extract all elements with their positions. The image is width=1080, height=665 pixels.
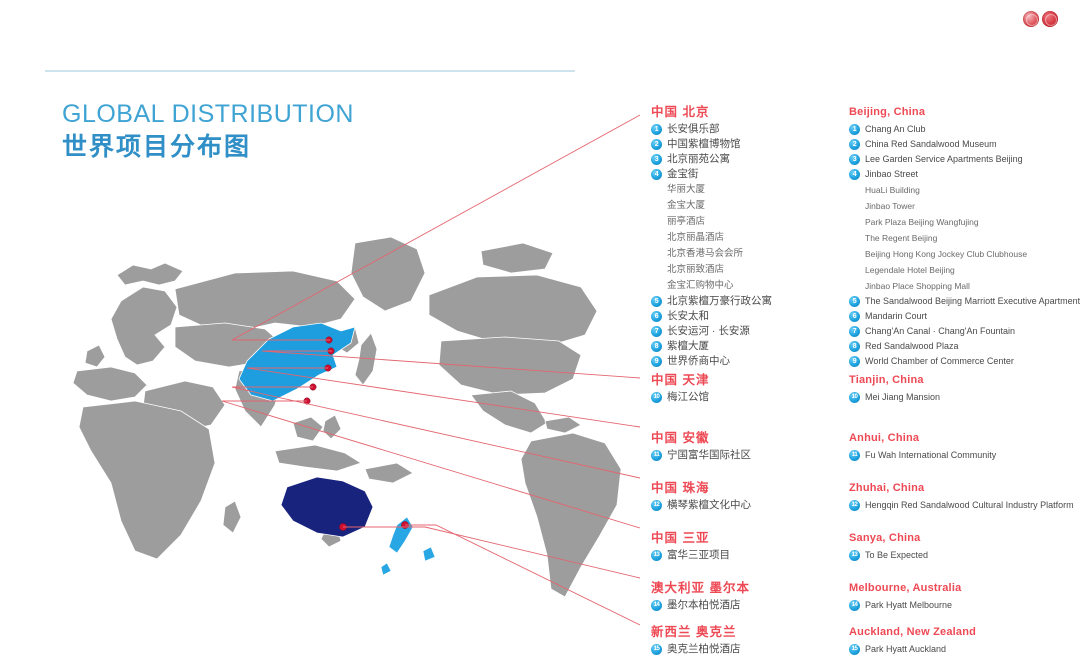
map-landmass-png [365, 463, 413, 483]
project-list-item[interactable]: 5北京紫檀万豪行政公寓 [651, 295, 772, 307]
map-landmass-usa [439, 337, 581, 395]
project-number-badge: 11 [849, 450, 860, 461]
project-number-badge: 10 [849, 392, 860, 403]
project-number-badge: 1 [651, 124, 662, 135]
project-list-item[interactable]: 2China Red Sandalwood Museum [849, 138, 1080, 150]
map-landmass-arctic-islands [481, 243, 553, 273]
project-name-label: 横琴紫檀文化中心 [667, 499, 751, 511]
project-number-badge: 2 [849, 139, 860, 150]
project-name-label: Fu Wah International Community [865, 449, 996, 461]
project-name-label: The Sandalwood Beijing Marriott Executiv… [865, 295, 1080, 307]
project-group-heading: 中国 天津 [651, 372, 709, 388]
project-sub-item[interactable]: HuaLi Building [849, 184, 1080, 196]
project-list-item[interactable]: 1Chang An Club [849, 123, 1080, 135]
project-number-badge: 7 [651, 326, 662, 337]
page-title-en: GLOBAL DISTRIBUTION [62, 100, 354, 130]
map-landmass-philippines [323, 415, 341, 439]
map-region-australia [281, 477, 373, 537]
map-landmass-indonesia [275, 445, 361, 471]
project-list-item[interactable]: 11宁国富华国际社区 [651, 449, 751, 461]
logo-badge-2-icon [1042, 11, 1058, 27]
project-list-item[interactable]: 9World Chamber of Commerce Center [849, 355, 1080, 367]
project-list-item[interactable]: 9世界侨商中心 [651, 355, 772, 367]
project-sub-item[interactable]: 华丽大厦 [651, 184, 772, 196]
project-list-item[interactable]: 13富华三亚项目 [651, 549, 730, 561]
project-number-badge: 11 [651, 450, 662, 461]
project-number-badge: 3 [651, 154, 662, 165]
map-landmass-caribbean [545, 417, 581, 433]
project-name-label: 长安俱乐部 [667, 123, 720, 135]
project-name-label: 富华三亚项目 [667, 549, 730, 561]
project-number-badge: 14 [849, 600, 860, 611]
project-name-label: 长安运河 · 长安源 [667, 325, 750, 337]
project-group-heading: Melbourne, Australia [849, 580, 961, 596]
map-marker-auckland [401, 521, 408, 528]
project-number-badge: 15 [849, 644, 860, 655]
project-number-badge: 4 [651, 169, 662, 180]
project-list-item[interactable]: 4金宝街 [651, 168, 772, 180]
project-group: Anhui, China11Fu Wah International Commu… [849, 430, 996, 461]
project-name-label: 长安太和 [667, 310, 709, 322]
map-marker-beijing [326, 337, 332, 343]
project-group: Beijing, China1Chang An Club2China Red S… [849, 104, 1080, 367]
project-sub-item[interactable]: 金宝大厦 [651, 200, 772, 212]
project-number-badge: 6 [849, 311, 860, 322]
project-number-badge: 15 [651, 644, 662, 655]
project-list-item[interactable]: 6长安太和 [651, 310, 772, 322]
project-sub-item[interactable]: 丽亭酒店 [651, 216, 772, 228]
project-number-badge: 4 [849, 169, 860, 180]
project-list-item[interactable]: 10梅江公馆 [651, 391, 709, 403]
project-list-item[interactable]: 7Chang'An Canal · Chang'An Fountain [849, 325, 1080, 337]
project-name-label: 宁国富华国际社区 [667, 449, 751, 461]
logo-badge-1-icon [1023, 11, 1039, 27]
project-sub-item[interactable]: The Regent Beijing [849, 232, 1080, 244]
project-list-item[interactable]: 3Lee Garden Service Apartments Beijing [849, 153, 1080, 165]
project-number-badge: 8 [849, 341, 860, 352]
project-list-item[interactable]: 2中国紫檀博物馆 [651, 138, 772, 150]
project-group-heading: Anhui, China [849, 430, 996, 446]
world-map [25, 215, 665, 615]
project-name-label: Chang An Club [865, 123, 926, 135]
logo-badge-group [1023, 11, 1058, 27]
project-group: 澳大利亚 墨尔本14墨尔本柏悦酒店 [651, 580, 750, 611]
project-name-label: 梅江公馆 [667, 391, 709, 403]
project-group-heading: Sanya, China [849, 530, 928, 546]
project-group-heading: Tianjin, China [849, 372, 940, 388]
project-group-heading: 中国 珠海 [651, 480, 751, 496]
project-number-badge: 10 [651, 392, 662, 403]
project-sub-item[interactable]: Jinbao Place Shopping Mall [849, 280, 1080, 292]
project-name-label: Park Hyatt Melbourne [865, 599, 952, 611]
map-landmass-sea-islands [293, 417, 323, 441]
project-number-badge: 5 [651, 296, 662, 307]
project-list-item[interactable]: 4Jinbao Street [849, 168, 1080, 180]
project-number-badge: 12 [651, 500, 662, 511]
project-group-heading: 中国 北京 [651, 104, 772, 120]
project-group: Sanya, China13To Be Expected [849, 530, 928, 561]
map-region-nz-islands [423, 547, 435, 561]
project-name-label: 奥克兰柏悦酒店 [667, 643, 741, 655]
project-group: 中国 北京1长安俱乐部2中国紫檀博物馆3北京丽苑公寓4金宝街华丽大厦金宝大厦丽亭… [651, 104, 772, 367]
project-name-label: Hengqin Red Sandalwood Cultural Industry… [865, 499, 1074, 511]
project-group-heading: 澳大利亚 墨尔本 [651, 580, 750, 596]
page-title-cn: 世界项目分布图 [62, 132, 354, 163]
project-group: 中国 天津10梅江公馆 [651, 372, 709, 403]
project-list-item[interactable]: 14墨尔本柏悦酒店 [651, 599, 750, 611]
project-number-badge: 2 [651, 139, 662, 150]
header-divider [45, 70, 575, 72]
project-list-item[interactable]: 6Mandarin Court [849, 310, 1080, 322]
project-group-heading: 中国 安徽 [651, 430, 751, 446]
project-number-badge: 7 [849, 326, 860, 337]
project-group: 中国 珠海12横琴紫檀文化中心 [651, 480, 751, 511]
project-name-label: Mandarin Court [865, 310, 927, 322]
project-list-item[interactable]: 12Hengqin Red Sandalwood Cultural Indust… [849, 499, 1074, 511]
project-name-label: Chang'An Canal · Chang'An Fountain [865, 325, 1015, 337]
project-group: Zhuhai, China12Hengqin Red Sandalwood Cu… [849, 480, 1074, 511]
map-marker-sanya [304, 398, 310, 404]
project-name-label: World Chamber of Commerce Center [865, 355, 1014, 367]
project-name-label: 中国紫檀博物馆 [667, 138, 741, 150]
project-name-label: Park Hyatt Auckland [865, 643, 946, 655]
project-group-heading: 中国 三亚 [651, 530, 730, 546]
project-sub-item[interactable]: Park Plaza Beijing Wangfujing [849, 216, 1080, 228]
project-list-item[interactable]: 14Park Hyatt Melbourne [849, 599, 961, 611]
map-landmass-madagascar [223, 501, 241, 533]
project-sub-item[interactable]: 北京丽晶酒店 [651, 232, 772, 244]
project-group-heading: 新西兰 奥克兰 [651, 624, 741, 640]
project-name-label: 北京丽苑公寓 [667, 153, 730, 165]
project-name-label: 北京紫檀万豪行政公寓 [667, 295, 772, 307]
project-number-badge: 13 [849, 550, 860, 561]
project-list-item[interactable]: 12横琴紫檀文化中心 [651, 499, 751, 511]
map-landmass-south-america [521, 433, 621, 597]
project-sub-item[interactable]: Beijing Hong Kong Jockey Club Clubhouse [849, 248, 1080, 260]
project-name-label: 金宝街 [667, 168, 699, 180]
map-landmass-iberia-west-europe [73, 367, 147, 401]
project-number-badge: 14 [651, 600, 662, 611]
project-name-label: 紫檀大厦 [667, 340, 709, 352]
map-landmass-uk [85, 345, 105, 367]
project-list-item[interactable]: 5The Sandalwood Beijing Marriott Executi… [849, 295, 1080, 307]
project-list-item[interactable]: 8Red Sandalwood Plaza [849, 340, 1080, 352]
project-number-badge: 3 [849, 154, 860, 165]
project-group: 新西兰 奥克兰15奥克兰柏悦酒店 [651, 624, 741, 655]
project-sub-item[interactable]: 北京香港马会会所 [651, 248, 772, 260]
project-group: Tianjin, China10Mei Jiang Mansion [849, 372, 940, 403]
project-group: Auckland, New Zealand15Park Hyatt Auckla… [849, 624, 976, 655]
project-number-badge: 6 [651, 311, 662, 322]
project-name-label: Red Sandalwood Plaza [865, 340, 959, 352]
project-group: Melbourne, Australia14Park Hyatt Melbour… [849, 580, 961, 611]
project-name-label: To Be Expected [865, 549, 928, 561]
project-sub-item[interactable]: 金宝汇购物中心 [651, 280, 772, 292]
project-group-heading: Zhuhai, China [849, 480, 1074, 496]
project-name-label: China Red Sandalwood Museum [865, 138, 997, 150]
project-sub-item[interactable]: 北京丽致酒店 [651, 264, 772, 276]
project-name-label: Jinbao Street [865, 168, 918, 180]
project-list-item[interactable]: 11Fu Wah International Community [849, 449, 996, 461]
map-region-new-zealand [389, 517, 413, 553]
map-landmass-scandinavia-europe [111, 287, 177, 365]
map-landmass-russia [175, 271, 355, 331]
project-group: 中国 三亚13富华三亚项目 [651, 530, 730, 561]
project-name-label: 墨尔本柏悦酒店 [667, 599, 741, 611]
project-list-item[interactable]: 10Mei Jiang Mansion [849, 391, 940, 403]
project-number-badge: 5 [849, 296, 860, 307]
map-landmass-africa [79, 401, 215, 559]
slide-canvas: GLOBAL DISTRIBUTION 世界项目分布图 [0, 0, 1080, 665]
map-landmass-eurasia-africa [117, 263, 183, 285]
project-list-item[interactable]: 7长安运河 · 长安源 [651, 325, 772, 337]
project-group: 中国 安徽11宁国富华国际社区 [651, 430, 751, 461]
map-marker-zhuhai [310, 384, 316, 390]
map-landmass-greenland [351, 237, 425, 311]
project-name-label: 世界侨商中心 [667, 355, 730, 367]
project-number-badge: 13 [651, 550, 662, 561]
project-number-badge: 12 [849, 500, 860, 511]
project-list-item[interactable]: 13To Be Expected [849, 549, 928, 561]
project-number-badge: 9 [849, 356, 860, 367]
project-name-label: Mei Jiang Mansion [865, 391, 940, 403]
map-marker-melbourne [339, 523, 346, 530]
project-number-badge: 1 [849, 124, 860, 135]
map-marker-tianjin [328, 348, 334, 354]
project-list-item[interactable]: 8紫檀大厦 [651, 340, 772, 352]
project-number-badge: 9 [651, 356, 662, 367]
project-name-label: Lee Garden Service Apartments Beijing [865, 153, 1023, 165]
project-list-item[interactable]: 15Park Hyatt Auckland [849, 643, 976, 655]
project-sub-item[interactable]: Legendale Hotel Beijing [849, 264, 1080, 276]
project-number-badge: 8 [651, 341, 662, 352]
project-list-item[interactable]: 3北京丽苑公寓 [651, 153, 772, 165]
project-group-heading: Beijing, China [849, 104, 1080, 120]
page-title: GLOBAL DISTRIBUTION 世界项目分布图 [62, 100, 354, 163]
map-marker-anhui [325, 365, 331, 371]
map-landmass-alaska-canada [429, 275, 597, 347]
project-group-heading: Auckland, New Zealand [849, 624, 976, 640]
map-landmass-mexico-ca [471, 391, 547, 433]
project-list-item[interactable]: 15奥克兰柏悦酒店 [651, 643, 741, 655]
project-list-item[interactable]: 1长安俱乐部 [651, 123, 772, 135]
project-sub-item[interactable]: Jinbao Tower [849, 200, 1080, 212]
map-region-pacific-islets [381, 563, 391, 575]
